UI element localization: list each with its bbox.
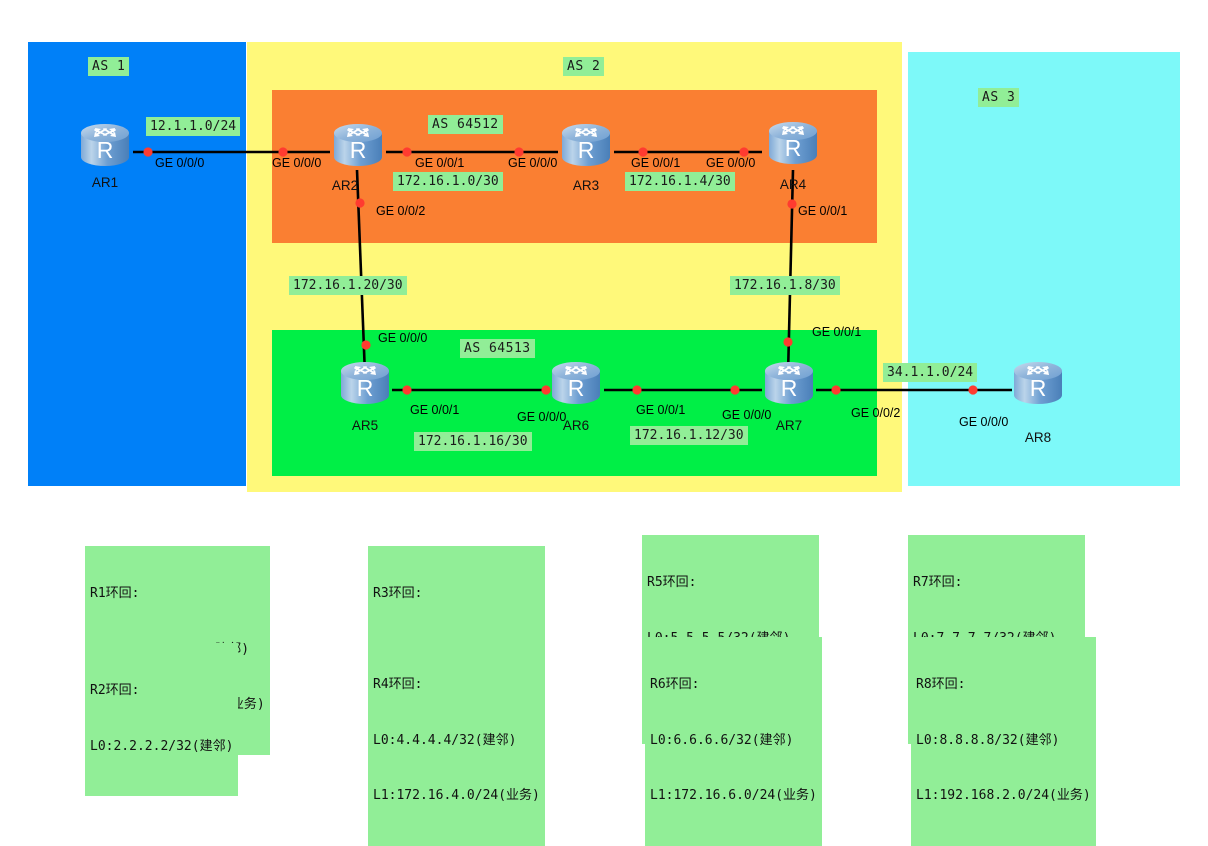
loopback-note-r2: R2环回: L0:2.2.2.2/32(建邻) [85, 643, 238, 796]
interface-label-ar4-ge0-0-1: GE 0/0/1 [798, 205, 847, 218]
loopback-note-title: R6环回: [650, 676, 817, 695]
topology-canvas: AS 1 AS 2 AS 3 AS 64512 AS 64513 [0, 0, 1208, 722]
loopback-note-title: R7环回: [913, 574, 1080, 593]
loopback-note-r8: R8环回: L0:8.8.8.8/32(建邻) L1:192.168.2.0/2… [911, 637, 1096, 846]
subnet-label-ar6-ar7: 172.16.1.12/30 [630, 426, 748, 445]
interface-label-ar2-ge0-0-2: GE 0/0/2 [376, 205, 425, 218]
loopback-note-title: R3环回: [373, 585, 540, 604]
as-label-as64512: AS 64512 [428, 115, 503, 134]
svg-text:R: R [350, 137, 367, 163]
subnet-label-ar5-ar6: 172.16.1.16/30 [414, 432, 532, 451]
as-label-as1: AS 1 [88, 57, 129, 76]
router-label-ar2: AR2 [316, 178, 374, 193]
interface-label-ar6-ge0-0-0: GE 0/0/0 [517, 411, 566, 424]
loopback-note-title: R1环回: [90, 585, 265, 604]
subnet-label-ar1-ar2: 12.1.1.0/24 [146, 117, 240, 136]
svg-text:R: R [1030, 375, 1047, 401]
interface-label-ar7-ge0-0-1: GE 0/0/1 [812, 326, 861, 339]
interface-label-ar2-ge0-0-0: GE 0/0/0 [272, 157, 321, 170]
router-icon-ar2[interactable]: R [329, 116, 387, 172]
interface-label-ar7-ge0-0-0: GE 0/0/0 [722, 409, 771, 422]
as-label-as2: AS 2 [563, 57, 604, 76]
loopback-note-title: R8环回: [916, 676, 1091, 695]
loopback-note-r4: R4环回: L0:4.4.4.4/32(建邻) L1:172.16.4.0/24… [368, 637, 545, 846]
router-label-ar8: AR8 [1009, 430, 1067, 445]
router-icon-ar6[interactable]: R [547, 354, 605, 410]
as-region-as3 [908, 52, 1180, 486]
as-label-as64513: AS 64513 [460, 339, 535, 358]
svg-text:R: R [781, 375, 798, 401]
subnet-label-ar4-ar7: 172.16.1.8/30 [730, 276, 840, 295]
router-icon-ar8[interactable]: R [1009, 354, 1067, 410]
interface-label-ar6-ge0-0-1: GE 0/0/1 [636, 404, 685, 417]
svg-text:R: R [578, 137, 595, 163]
loopback-note-line: L0:8.8.8.8/32(建邻) [916, 732, 1091, 751]
loopback-note-line: L1:192.168.2.0/24(业务) [916, 787, 1091, 806]
router-icon-ar4[interactable]: R [764, 114, 822, 170]
svg-text:R: R [97, 137, 114, 163]
subnet-label-ar2-ar3: 172.16.1.0/30 [393, 172, 503, 191]
loopback-note-line: L0:4.4.4.4/32(建邻) [373, 732, 540, 751]
loopback-note-line: L1:172.16.6.0/24(业务) [650, 787, 817, 806]
router-label-ar3: AR3 [557, 178, 615, 193]
loopback-note-title: R5环回: [647, 574, 814, 593]
loopback-note-r6: R6环回: L0:6.6.6.6/32(建邻) L1:172.16.6.0/24… [645, 637, 822, 846]
as-region-as1 [28, 42, 246, 486]
as-label-as3: AS 3 [978, 88, 1019, 107]
svg-text:R: R [785, 135, 802, 161]
svg-text:R: R [357, 375, 374, 401]
interface-label-ar3-ge0-0-0: GE 0/0/0 [508, 157, 557, 170]
loopback-note-line: L1:172.16.4.0/24(业务) [373, 787, 540, 806]
interface-label-ar5-ge0-0-0: GE 0/0/0 [378, 332, 427, 345]
loopback-note-title: R4环回: [373, 676, 540, 695]
interface-label-ar3-ge0-0-1: GE 0/0/1 [631, 157, 680, 170]
interface-label-ar2-ge0-0-1: GE 0/0/1 [415, 157, 464, 170]
router-label-ar5: AR5 [336, 418, 394, 433]
router-label-ar4: AR4 [764, 177, 822, 192]
interface-label-ar4-ge0-0-0: GE 0/0/0 [706, 157, 755, 170]
router-label-ar1: AR1 [76, 175, 134, 190]
interface-label-ar8-ge0-0-0: GE 0/0/0 [959, 416, 1008, 429]
subnet-label-ar7-ar8: 34.1.1.0/24 [883, 363, 977, 382]
subnet-label-ar2-ar5: 172.16.1.20/30 [289, 276, 407, 295]
router-icon-ar3[interactable]: R [557, 116, 615, 172]
interface-label-ar1-ge0-0-0: GE 0/0/0 [155, 157, 204, 170]
router-icon-ar1[interactable]: R [76, 116, 134, 172]
loopback-note-title: R2环回: [90, 682, 233, 701]
router-icon-ar7[interactable]: R [760, 354, 818, 410]
router-icon-ar5[interactable]: R [336, 354, 394, 410]
interface-label-ar5-ge0-0-1: GE 0/0/1 [410, 404, 459, 417]
loopback-note-line: L0:6.6.6.6/32(建邻) [650, 732, 817, 751]
svg-text:R: R [568, 375, 585, 401]
loopback-note-line: L0:2.2.2.2/32(建邻) [90, 738, 233, 757]
subnet-label-ar3-ar4: 172.16.1.4/30 [625, 172, 735, 191]
interface-label-ar7-ge0-0-2: GE 0/0/2 [851, 407, 900, 420]
